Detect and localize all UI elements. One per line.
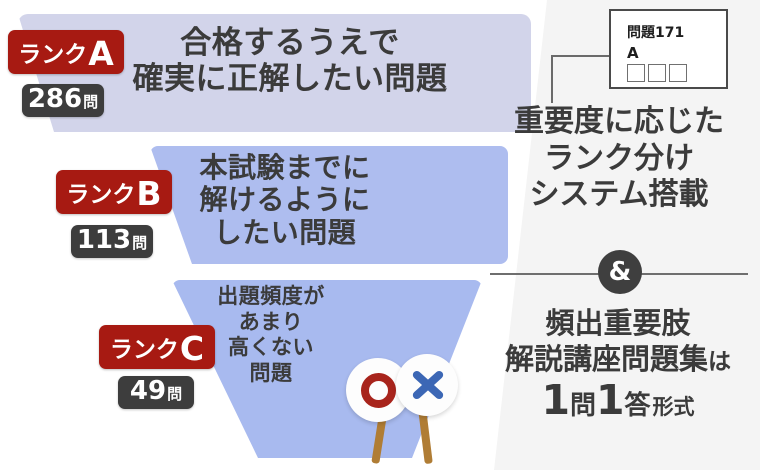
body-line-2-suffix: は <box>708 349 731 375</box>
body-line-2: 解説講座問題集は <box>476 341 760 377</box>
callout-checkbox-3[interactable] <box>669 64 687 82</box>
rank-badge-a: ランク A <box>8 30 124 74</box>
rank-badge-b: ランク B <box>56 170 172 214</box>
rank-b-count-unit: 問 <box>132 232 147 253</box>
format-unit-2: 答 <box>625 390 651 423</box>
rank-a-count-number: 286 <box>28 84 82 114</box>
answer-paddles <box>338 352 468 470</box>
rank-badge-c-word: ランク <box>110 330 179 364</box>
body-line-1: 頻出重要肢 <box>476 305 760 341</box>
rank-badge-a-word: ランク <box>18 35 87 69</box>
ampersand-divider: & <box>490 250 748 296</box>
maru-ring-shape <box>361 373 396 408</box>
format-number-2: 1 <box>596 380 625 421</box>
rank-badge-b-letter: B <box>136 177 161 210</box>
rank-badge-c-letter: C <box>180 332 204 365</box>
leader-line-horizontal <box>551 55 611 57</box>
body-format-line: 1 問 1 答 形式 <box>476 380 760 423</box>
format-unit-1: 問 <box>570 390 596 423</box>
rank-a-count-unit: 問 <box>83 91 98 112</box>
question-sample-callout: 問題171 A <box>609 9 728 89</box>
callout-checkbox-2[interactable] <box>648 64 666 82</box>
rank-c-count-badge: 49 問 <box>118 376 194 409</box>
rank-badge-a-letter: A <box>88 37 114 70</box>
callout-question-label: 問題171 <box>627 22 684 42</box>
infographic-root: 合格するうえで 確実に正解したい問題 本試験までに 解けるように したい問題 出… <box>0 0 760 470</box>
callout-checkbox-1[interactable] <box>627 64 645 82</box>
format-number-1: 1 <box>541 380 570 421</box>
rank-c-count-unit: 問 <box>167 383 182 404</box>
callout-leader-line <box>551 55 611 103</box>
right-panel-headline: 重要度に応じた ランク分け システム搭載 <box>478 104 760 214</box>
callout-checkbox-group[interactable] <box>627 64 687 82</box>
rank-badge-c: ランク C <box>99 325 215 369</box>
rank-badge-b-word: ランク <box>66 175 135 209</box>
callout-rank-letter: A <box>627 44 639 62</box>
rank-c-count-number: 49 <box>130 376 166 406</box>
batsu-cross-icon <box>396 354 458 416</box>
rank-b-count-badge: 113 問 <box>71 225 153 258</box>
ampersand-badge: & <box>598 250 642 294</box>
format-suffix: 形式 <box>653 394 695 420</box>
rank-b-count-number: 113 <box>77 225 131 255</box>
batsu-cross-shape <box>407 365 447 405</box>
rank-b-description: 本試験までに 解けるように したい問題 <box>170 152 400 249</box>
body-line-2-main: 解説講座問題集 <box>505 342 708 376</box>
leader-line-vertical <box>551 55 553 103</box>
right-panel-body: 頻出重要肢 解説講座問題集は 1 問 1 答 形式 <box>476 305 760 422</box>
rank-a-description: 合格するうえで 確実に正解したい問題 <box>110 26 470 98</box>
rank-a-count-badge: 286 問 <box>22 84 104 117</box>
